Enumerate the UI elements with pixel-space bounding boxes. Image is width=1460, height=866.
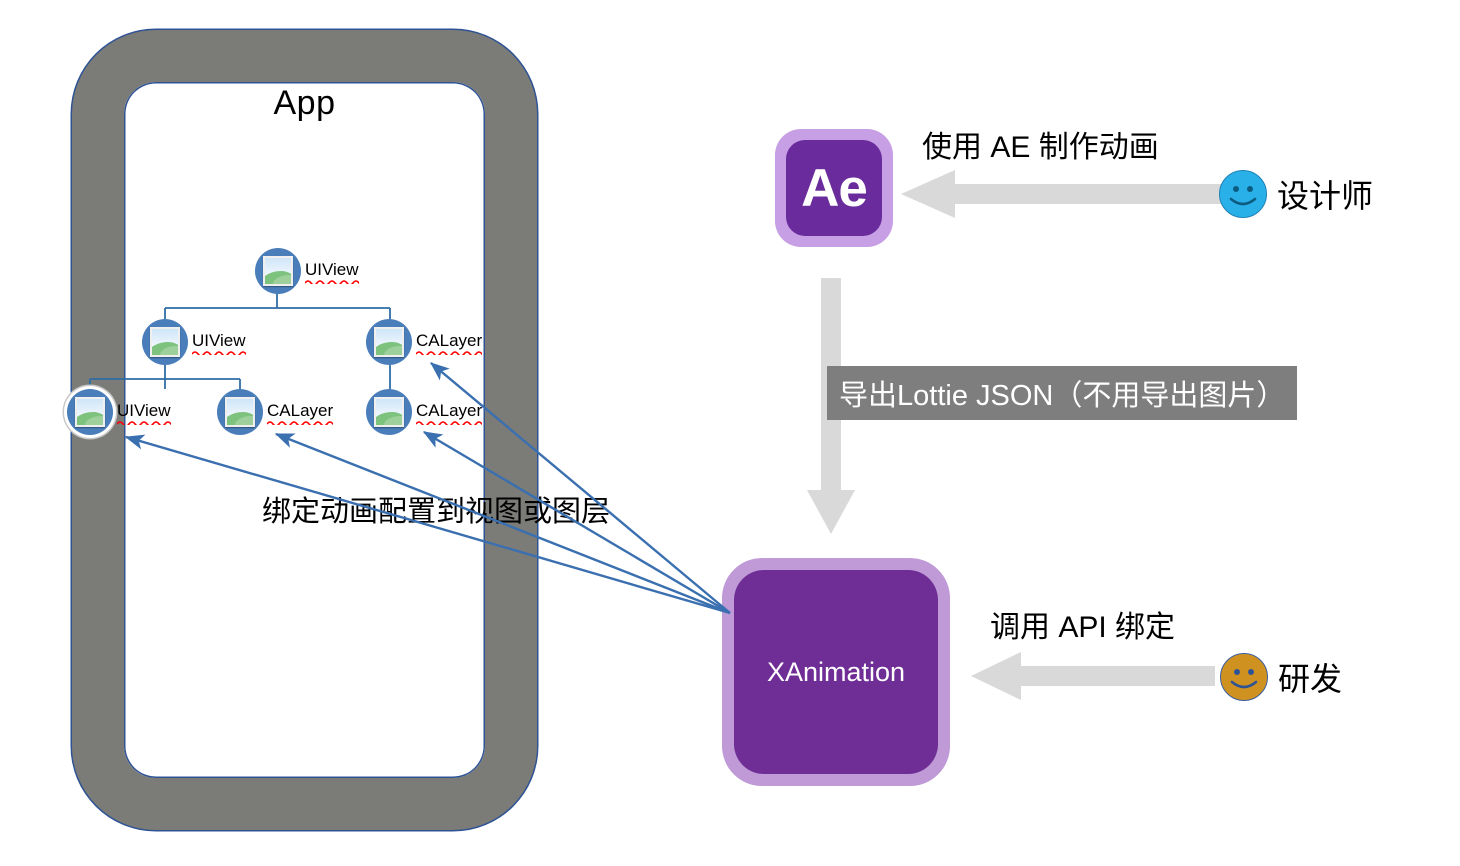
person-developer[interactable]: 研发 — [1220, 653, 1342, 701]
smiley-face-icon — [1220, 653, 1268, 701]
tree-node-uiview-root[interactable]: UIView — [255, 248, 359, 294]
view-thumbnail-icon — [366, 319, 412, 365]
view-thumbnail-icon — [67, 389, 113, 435]
tree-node-label-text: UIView — [192, 331, 246, 350]
tree-node-label-text: CALayer — [267, 401, 333, 420]
xanimation-step-label: 调用 API 绑定 — [990, 602, 1175, 646]
view-thumbnail-icon — [217, 389, 263, 435]
after-effects-logo-text: Ae — [786, 140, 882, 236]
spellcheck-squiggle-icon — [117, 420, 171, 425]
xanimation-box-label: XAnimation — [734, 570, 938, 774]
tree-node-label: CALayer — [416, 331, 482, 354]
app-title: App — [72, 84, 537, 123]
spellcheck-squiggle-icon — [267, 420, 333, 425]
gray-arrow-designer-to-ae — [895, 168, 1225, 220]
lottie-export-banner: 导出Lottie JSON（不用导出图片） — [827, 366, 1297, 420]
tree-node-label-text: UIView — [117, 401, 171, 420]
view-thumbnail-icon — [255, 248, 301, 294]
tree-node-calayer-leaf1[interactable]: CALayer — [217, 389, 333, 435]
tree-node-label-text: UIView — [305, 260, 359, 279]
spellcheck-squiggle-icon — [416, 350, 482, 355]
diagram-canvas: App UIView — [0, 0, 1460, 866]
tree-node-label: UIView — [117, 401, 171, 424]
spellcheck-squiggle-icon — [305, 279, 359, 284]
person-label: 研发 — [1278, 654, 1342, 700]
bind-caption: 绑定动画配置到视图或图层 — [262, 488, 610, 530]
ae-step-label: 使用 AE 制作动画 — [922, 122, 1159, 166]
tree-node-calayer-child1[interactable]: CALayer — [366, 319, 482, 365]
smiley-face-icon — [1219, 170, 1267, 218]
tree-node-label-text: CALayer — [416, 331, 482, 350]
after-effects-logo-icon[interactable]: Ae — [775, 129, 893, 247]
gray-arrow-developer-to-xanimation — [965, 650, 1215, 702]
tree-node-uiview-child1[interactable]: UIView — [142, 319, 246, 365]
tree-node-label: CALayer — [416, 401, 482, 424]
tree-node-label: UIView — [192, 331, 246, 354]
tree-node-calayer-leaf2[interactable]: CALayer — [366, 389, 482, 435]
spellcheck-squiggle-icon — [192, 350, 246, 355]
spellcheck-squiggle-icon — [416, 420, 482, 425]
tree-node-label-text: CALayer — [416, 401, 482, 420]
person-designer[interactable]: 设计师 — [1219, 170, 1373, 218]
view-thumbnail-icon — [142, 319, 188, 365]
person-label: 设计师 — [1277, 171, 1373, 217]
view-thumbnail-icon — [366, 389, 412, 435]
tree-node-uiview-leaf[interactable]: UIView — [67, 389, 171, 435]
tree-node-label: CALayer — [267, 401, 333, 424]
xanimation-box[interactable]: XAnimation — [722, 558, 950, 786]
tree-node-label: UIView — [305, 260, 359, 283]
